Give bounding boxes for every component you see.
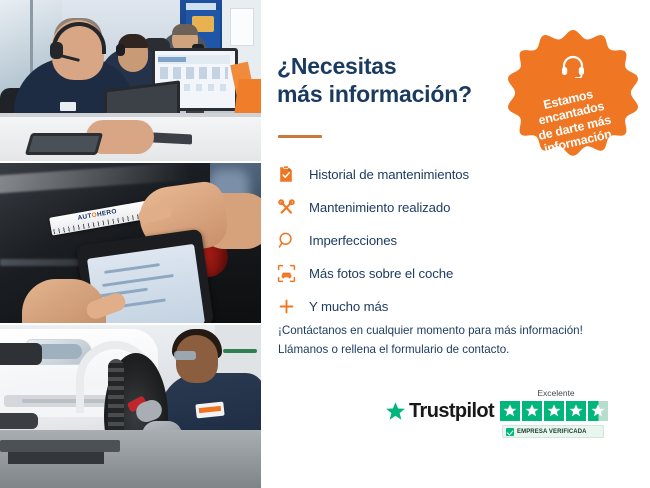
trustpilot-rating: Excelente EMPRESA VERIFICADA <box>500 388 630 438</box>
verified-company-badge: EMPRESA VERIFICADA <box>502 425 604 438</box>
car-scan-icon <box>277 264 296 283</box>
feature-item-label: Más fotos sobre el coche <box>309 266 453 281</box>
star-2 <box>522 401 542 421</box>
feature-item-imperfections: Imperfecciones <box>277 224 537 257</box>
workshop-tyre-check-photo <box>0 325 261 488</box>
page-title: ¿Necesitas más información? <box>277 52 507 108</box>
trustpilot-stars <box>500 401 630 421</box>
headset-icon <box>560 54 586 83</box>
verified-check-icon <box>506 428 514 436</box>
feature-item-more-photos: Más fotos sobre el coche <box>277 257 537 290</box>
feature-item-maintenance-done: Mantenimiento realizado <box>277 191 537 224</box>
title-divider <box>278 135 322 138</box>
contact-paragraph-line2: Llámanos o rellena el formulario de cont… <box>278 341 638 360</box>
star-4 <box>566 401 586 421</box>
page-title-line2: más información? <box>277 80 507 108</box>
content-panel: ¿Necesitas más información? Historial de… <box>261 0 650 488</box>
star-5-half <box>588 401 608 421</box>
trustpilot-brand-label: Trustpilot <box>409 400 494 423</box>
star-3 <box>544 401 564 421</box>
information-promo-card: AUTOHERO ¿Necesitas má <box>0 0 650 488</box>
trustpilot-rating-label: Excelente <box>502 388 610 398</box>
vehicle-inspection-photo: AUTOHERO <box>0 163 261 325</box>
trustpilot-star-icon <box>385 401 406 422</box>
call-center-agents-photo <box>0 0 261 163</box>
trustpilot-logo[interactable]: Trustpilot <box>385 400 494 423</box>
verified-company-label: EMPRESA VERIFICADA <box>517 429 587 435</box>
page-title-line1: ¿Necesitas <box>277 52 507 80</box>
feature-item-label: Historial de mantenimientos <box>309 167 469 182</box>
plus-icon <box>277 297 296 316</box>
feature-item-maintenance-history: Historial de mantenimientos <box>277 158 537 191</box>
document-check-icon <box>277 165 296 184</box>
contact-paragraph-line1: ¡Contáctanos en cualquier momento para m… <box>278 322 638 341</box>
feature-item-much-more: Y mucho más <box>277 290 537 323</box>
wrench-screwdriver-icon <box>277 198 296 217</box>
feature-item-label: Mantenimiento realizado <box>309 200 450 215</box>
feature-list: Historial de mantenimientos Mantenimient… <box>277 158 537 323</box>
support-badge: Estamos encantados de darte más informac… <box>506 28 640 162</box>
magnifier-icon <box>277 231 296 250</box>
feature-item-label: Y mucho más <box>309 299 388 314</box>
star-1 <box>500 401 520 421</box>
feature-item-label: Imperfecciones <box>309 233 397 248</box>
photo-column: AUTOHERO <box>0 0 261 488</box>
contact-paragraph: ¡Contáctanos en cualquier momento para m… <box>278 322 638 360</box>
